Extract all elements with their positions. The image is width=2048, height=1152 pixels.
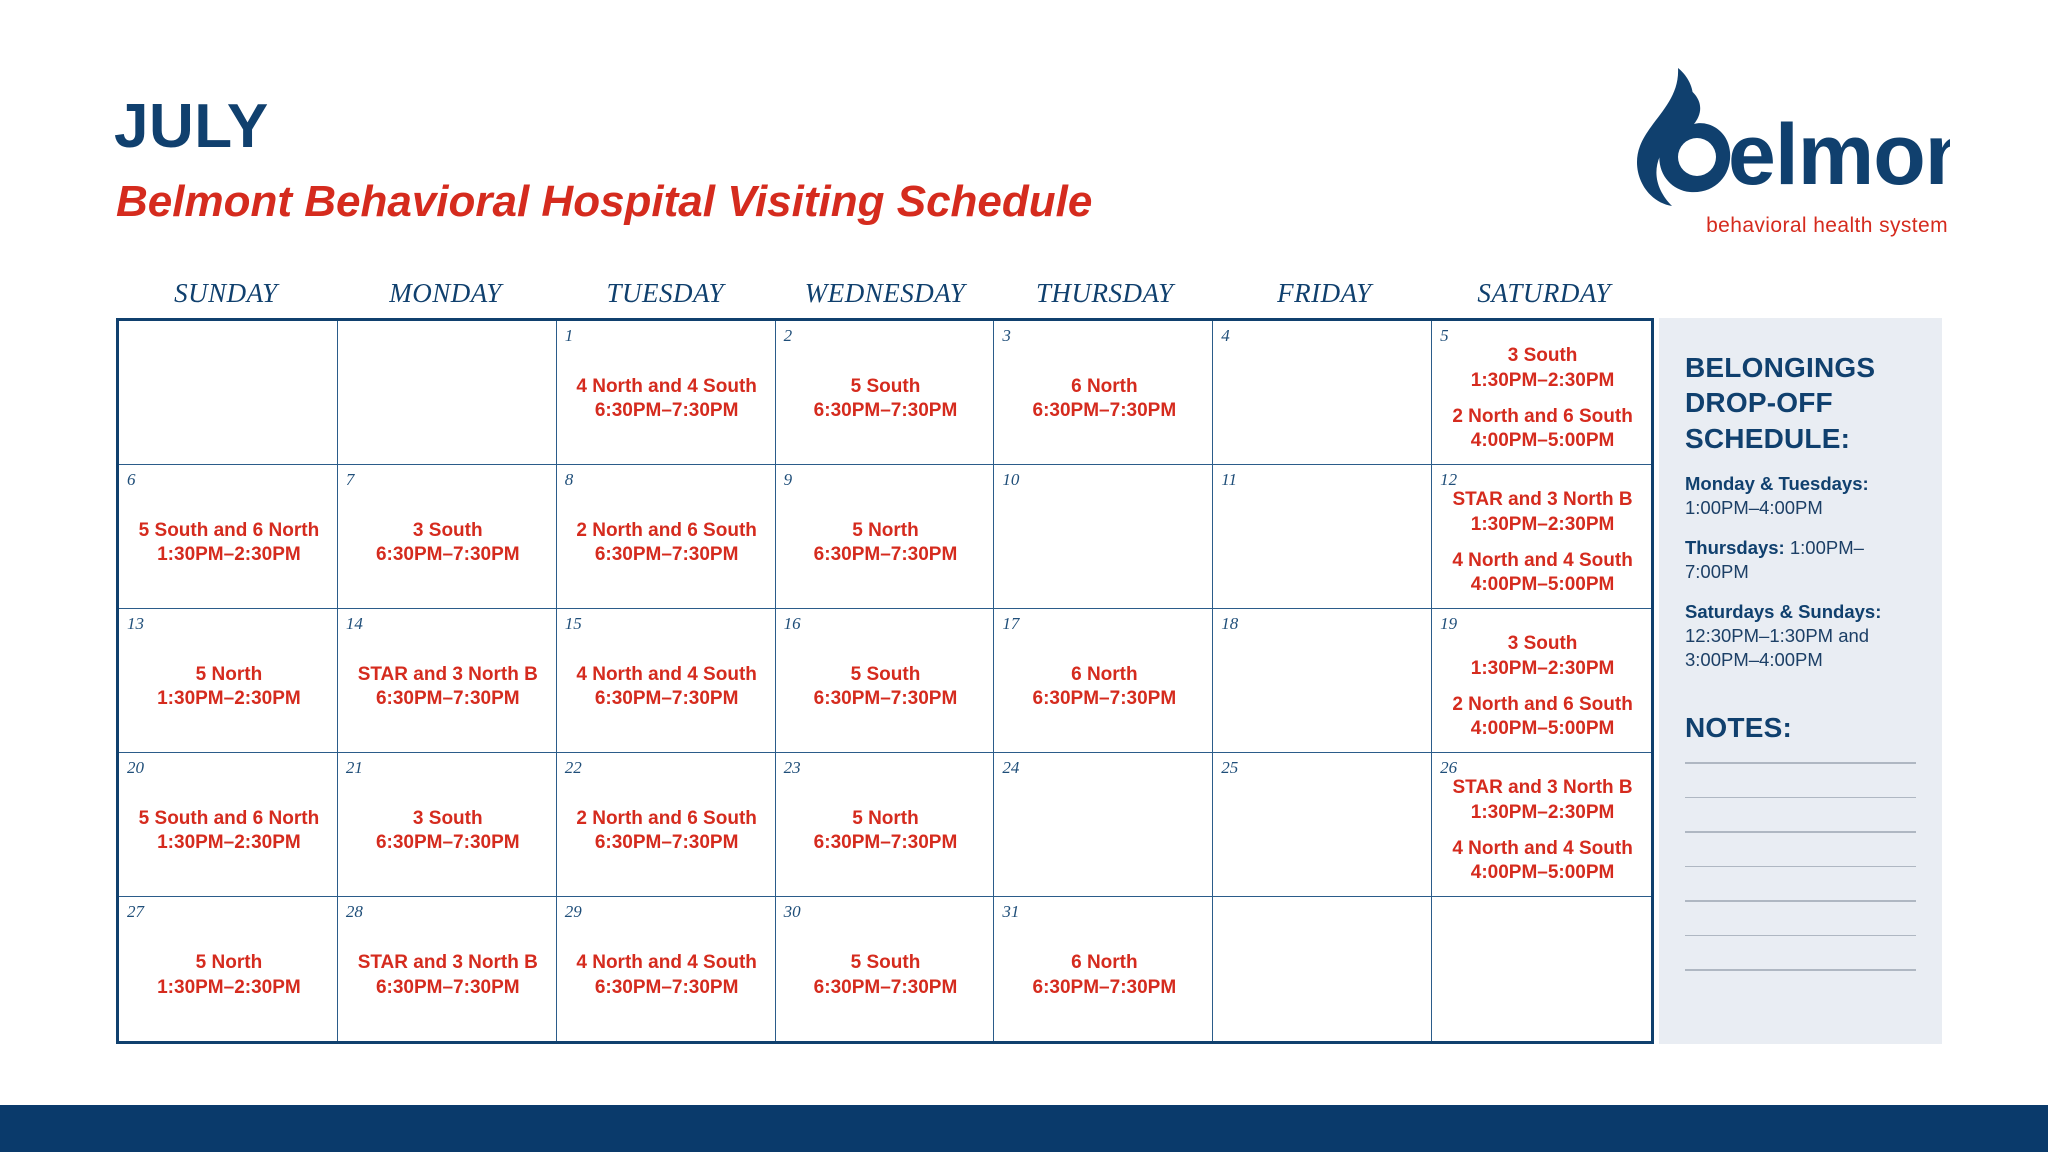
- day-events: 4 North and 4 South6:30PM–7:30PM: [565, 344, 769, 460]
- dropoff-schedule-list: Monday & Tuesdays:1:00PM–4:00PMThursdays…: [1685, 472, 1916, 672]
- dropoff-label: Saturdays & Sundays:: [1685, 601, 1881, 622]
- visiting-event: 4 North and 4 South6:30PM–7:30PM: [576, 951, 757, 1000]
- day-number: 27: [127, 903, 331, 920]
- event-unit: 5 North: [157, 663, 301, 687]
- day-events: 5 South6:30PM–7:30PM: [784, 344, 988, 460]
- day-events: STAR and 3 North B6:30PM–7:30PM: [346, 632, 550, 748]
- event-time: 6:30PM–7:30PM: [814, 543, 958, 567]
- weekday-header-sunday: SUNDAY: [116, 278, 336, 318]
- day-number: 10: [1002, 471, 1206, 488]
- event-unit: STAR and 3 North B: [1452, 488, 1632, 512]
- dropoff-value: 12:30PM–1:30PM and 3:00PM–4:00PM: [1685, 625, 1869, 670]
- event-unit: 5 South: [814, 375, 958, 399]
- calendar-day-cell[interactable]: 10: [994, 465, 1213, 609]
- day-number: 29: [565, 903, 769, 920]
- day-events: 5 North6:30PM–7:30PM: [784, 488, 988, 604]
- day-events: STAR and 3 North B1:30PM–2:30PM4 North a…: [1440, 776, 1645, 892]
- calendar-day-cell[interactable]: 213 South6:30PM–7:30PM: [338, 753, 557, 897]
- day-number: 3: [1002, 327, 1206, 344]
- event-unit: 5 South: [814, 663, 958, 687]
- event-time: 6:30PM–7:30PM: [576, 399, 757, 423]
- event-unit: 5 North: [157, 951, 301, 975]
- calendar-day-cell[interactable]: 28STAR and 3 North B6:30PM–7:30PM: [338, 897, 557, 1041]
- event-time: 1:30PM–2:30PM: [1452, 801, 1632, 825]
- visiting-event: 5 South6:30PM–7:30PM: [814, 375, 958, 424]
- calendar-day-cell[interactable]: 275 North1:30PM–2:30PM: [119, 897, 338, 1041]
- calendar-day-cell[interactable]: 176 North6:30PM–7:30PM: [994, 609, 1213, 753]
- event-unit: 3 South: [376, 807, 520, 831]
- day-number: 12: [1440, 471, 1645, 488]
- event-time: 4:00PM–5:00PM: [1452, 573, 1633, 597]
- visiting-event: 3 South6:30PM–7:30PM: [376, 519, 520, 568]
- dropoff-item: Monday & Tuesdays:1:00PM–4:00PM: [1685, 472, 1916, 520]
- event-time: 6:30PM–7:30PM: [814, 831, 958, 855]
- calendar-day-cell[interactable]: 294 North and 4 South6:30PM–7:30PM: [557, 897, 776, 1041]
- calendar-day-cell[interactable]: 65 South and 6 North1:30PM–2:30PM: [119, 465, 338, 609]
- note-line[interactable]: [1685, 935, 1916, 937]
- day-number: 17: [1002, 615, 1206, 632]
- day-events: [1221, 488, 1425, 604]
- calendar-day-cell[interactable]: 95 North6:30PM–7:30PM: [776, 465, 995, 609]
- calendar-day-cell[interactable]: 135 North1:30PM–2:30PM: [119, 609, 338, 753]
- visiting-event: STAR and 3 North B1:30PM–2:30PM: [1452, 776, 1632, 825]
- day-events: 3 South6:30PM–7:30PM: [346, 776, 550, 892]
- day-events: 2 North and 6 South6:30PM–7:30PM: [565, 488, 769, 604]
- calendar-day-cell[interactable]: 4: [1213, 321, 1432, 465]
- dropoff-item: Thursdays: 1:00PM–7:00PM: [1685, 536, 1916, 584]
- calendar-day-cell[interactable]: 235 North6:30PM–7:30PM: [776, 753, 995, 897]
- calendar-day-cell[interactable]: 26STAR and 3 North B1:30PM–2:30PM4 North…: [1432, 753, 1651, 897]
- day-number: 9: [784, 471, 988, 488]
- event-time: 6:30PM–7:30PM: [576, 543, 757, 567]
- event-time: 6:30PM–7:30PM: [376, 543, 520, 567]
- dropoff-item: Saturdays & Sundays:12:30PM–1:30PM and 3…: [1685, 600, 1916, 672]
- event-unit: STAR and 3 North B: [358, 663, 538, 687]
- visiting-event: 5 North1:30PM–2:30PM: [157, 951, 301, 1000]
- note-line[interactable]: [1685, 900, 1916, 902]
- calendar-day-cell[interactable]: [338, 321, 557, 465]
- visiting-event: 2 North and 6 South4:00PM–5:00PM: [1452, 405, 1633, 454]
- visiting-event: 5 North1:30PM–2:30PM: [157, 663, 301, 712]
- calendar-day-cell[interactable]: [1432, 897, 1651, 1041]
- visiting-event: 5 North6:30PM–7:30PM: [814, 807, 958, 856]
- day-events: 6 North6:30PM–7:30PM: [1002, 920, 1206, 1037]
- event-time: 1:30PM–2:30PM: [1471, 369, 1615, 393]
- calendar-day-cell[interactable]: 165 South6:30PM–7:30PM: [776, 609, 995, 753]
- day-events: 4 North and 4 South6:30PM–7:30PM: [565, 920, 769, 1037]
- event-time: 1:30PM–2:30PM: [1452, 513, 1632, 537]
- event-unit: 5 North: [814, 807, 958, 831]
- day-number: 13: [127, 615, 331, 632]
- event-time: 6:30PM–7:30PM: [814, 976, 958, 1000]
- day-number: 15: [565, 615, 769, 632]
- visiting-event: 5 South6:30PM–7:30PM: [814, 951, 958, 1000]
- day-number: 28: [346, 903, 550, 920]
- day-number: 11: [1221, 471, 1425, 488]
- visiting-event: 4 North and 4 South4:00PM–5:00PM: [1452, 837, 1633, 886]
- event-time: 4:00PM–5:00PM: [1452, 429, 1633, 453]
- event-time: 4:00PM–5:00PM: [1452, 717, 1633, 741]
- calendar-day-cell[interactable]: 25 South6:30PM–7:30PM: [776, 321, 995, 465]
- note-line[interactable]: [1685, 762, 1916, 764]
- event-unit: 5 North: [814, 519, 958, 543]
- event-time: 6:30PM–7:30PM: [358, 687, 538, 711]
- calendar-day-cell[interactable]: 24: [994, 753, 1213, 897]
- visiting-event: 6 North6:30PM–7:30PM: [1033, 951, 1177, 1000]
- event-time: 6:30PM–7:30PM: [1033, 399, 1177, 423]
- day-events: 5 South6:30PM–7:30PM: [784, 920, 988, 1037]
- calendar-day-cell[interactable]: 82 North and 6 South6:30PM–7:30PM: [557, 465, 776, 609]
- visiting-event: 5 South6:30PM–7:30PM: [814, 663, 958, 712]
- day-events: 5 South and 6 North1:30PM–2:30PM: [127, 488, 331, 604]
- calendar-day-cell[interactable]: 222 North and 6 South6:30PM–7:30PM: [557, 753, 776, 897]
- visiting-event: 3 South1:30PM–2:30PM: [1471, 344, 1615, 393]
- day-number: 25: [1221, 759, 1425, 776]
- visiting-event: 2 North and 6 South6:30PM–7:30PM: [576, 519, 757, 568]
- note-line[interactable]: [1685, 866, 1916, 868]
- calendar-day-cell[interactable]: 73 South6:30PM–7:30PM: [338, 465, 557, 609]
- dropoff-value: 1:00PM–4:00PM: [1685, 497, 1823, 518]
- event-time: 1:30PM–2:30PM: [157, 976, 301, 1000]
- event-unit: 4 North and 4 South: [576, 951, 757, 975]
- visiting-event: 5 South and 6 North1:30PM–2:30PM: [139, 519, 320, 568]
- day-events: [127, 327, 331, 460]
- day-events: 5 North6:30PM–7:30PM: [784, 776, 988, 892]
- event-time: 1:30PM–2:30PM: [157, 687, 301, 711]
- day-events: STAR and 3 North B6:30PM–7:30PM: [346, 920, 550, 1037]
- note-line[interactable]: [1685, 831, 1916, 833]
- flame-b-icon: elmont: [1620, 62, 1950, 212]
- calendar-day-cell[interactable]: 305 South6:30PM–7:30PM: [776, 897, 995, 1041]
- event-time: 6:30PM–7:30PM: [376, 831, 520, 855]
- dropoff-label: Thursdays:: [1685, 537, 1785, 558]
- event-time: 6:30PM–7:30PM: [814, 687, 958, 711]
- calendar-day-cell[interactable]: 154 North and 4 South6:30PM–7:30PM: [557, 609, 776, 753]
- calendar-page: JULY Belmont Behavioral Hospital Visitin…: [0, 0, 2048, 1152]
- day-events: [1221, 903, 1425, 1037]
- weekday-header-row: SUNDAYMONDAYTUESDAYWEDNESDAYTHURSDAYFRID…: [116, 278, 1654, 318]
- visiting-event: 3 South6:30PM–7:30PM: [376, 807, 520, 856]
- event-time: 6:30PM–7:30PM: [576, 687, 757, 711]
- day-number: 16: [784, 615, 988, 632]
- event-unit: 5 South and 6 North: [139, 519, 320, 543]
- day-number: 1: [565, 327, 769, 344]
- day-number: 2: [784, 327, 988, 344]
- event-unit: 4 North and 4 South: [1452, 837, 1633, 861]
- day-number: 31: [1002, 903, 1206, 920]
- visiting-event: 6 North6:30PM–7:30PM: [1033, 663, 1177, 712]
- visiting-event: 2 North and 6 South6:30PM–7:30PM: [576, 807, 757, 856]
- day-number: 26: [1440, 759, 1645, 776]
- day-events: 2 North and 6 South6:30PM–7:30PM: [565, 776, 769, 892]
- day-events: 5 South and 6 North1:30PM–2:30PM: [127, 776, 331, 892]
- event-time: 6:30PM–7:30PM: [814, 399, 958, 423]
- day-events: [1221, 632, 1425, 748]
- day-number: 23: [784, 759, 988, 776]
- calendar-day-cell[interactable]: 14STAR and 3 North B6:30PM–7:30PM: [338, 609, 557, 753]
- calendar-day-cell[interactable]: 205 South and 6 North1:30PM–2:30PM: [119, 753, 338, 897]
- day-events: [1002, 776, 1206, 892]
- event-time: 6:30PM–7:30PM: [1033, 687, 1177, 711]
- visiting-event: 6 North6:30PM–7:30PM: [1033, 375, 1177, 424]
- day-events: [1440, 903, 1645, 1037]
- calendar-day-cell[interactable]: 316 North6:30PM–7:30PM: [994, 897, 1213, 1041]
- day-number: 30: [784, 903, 988, 920]
- day-events: 6 North6:30PM–7:30PM: [1002, 344, 1206, 460]
- logo-tagline: behavioral health system: [1706, 214, 1948, 238]
- day-events: [346, 327, 550, 460]
- event-unit: 6 North: [1033, 951, 1177, 975]
- weekday-header-monday: MONDAY: [336, 278, 556, 318]
- calendar-day-cell[interactable]: 12STAR and 3 North B1:30PM–2:30PM4 North…: [1432, 465, 1651, 609]
- calendar-day-cell[interactable]: 193 South1:30PM–2:30PM2 North and 6 Sout…: [1432, 609, 1651, 753]
- svg-text:elmont: elmont: [1728, 107, 1950, 203]
- event-time: 4:00PM–5:00PM: [1452, 861, 1633, 885]
- day-events: [1221, 344, 1425, 460]
- notes-heading: NOTES:: [1685, 712, 1916, 744]
- day-number: 22: [565, 759, 769, 776]
- calendar-day-cell[interactable]: 25: [1213, 753, 1432, 897]
- event-time: 1:30PM–2:30PM: [1471, 657, 1615, 681]
- event-unit: 2 North and 6 South: [1452, 405, 1633, 429]
- day-events: 5 North1:30PM–2:30PM: [127, 632, 331, 748]
- calendar-day-cell[interactable]: 11: [1213, 465, 1432, 609]
- sidebar-panel: BELONGINGS DROP-OFF SCHEDULE: Monday & T…: [1659, 318, 1942, 1044]
- visiting-event: STAR and 3 North B6:30PM–7:30PM: [358, 951, 538, 1000]
- notes-lines[interactable]: [1685, 762, 1916, 971]
- visiting-event: 4 North and 4 South6:30PM–7:30PM: [576, 375, 757, 424]
- day-number: 6: [127, 471, 331, 488]
- calendar-day-cell[interactable]: 36 North6:30PM–7:30PM: [994, 321, 1213, 465]
- weekday-header-friday: FRIDAY: [1215, 278, 1435, 318]
- weekday-header-saturday: SATURDAY: [1434, 278, 1654, 318]
- event-time: 1:30PM–2:30PM: [139, 543, 320, 567]
- weekday-header-wednesday: WEDNESDAY: [775, 278, 995, 318]
- visiting-event: 4 North and 4 South4:00PM–5:00PM: [1452, 549, 1633, 598]
- event-unit: 3 South: [1471, 344, 1615, 368]
- day-number: 18: [1221, 615, 1425, 632]
- belmont-logo: elmont behavioral health system: [1620, 62, 1950, 242]
- day-events: STAR and 3 North B1:30PM–2:30PM4 North a…: [1440, 488, 1645, 604]
- calendar-grid: 14 North and 4 South6:30PM–7:30PM25 Sout…: [116, 318, 1654, 1044]
- day-number: 7: [346, 471, 550, 488]
- event-unit: 6 North: [1033, 663, 1177, 687]
- belongings-heading: BELONGINGS DROP-OFF SCHEDULE:: [1685, 350, 1916, 456]
- visiting-event: 3 South1:30PM–2:30PM: [1471, 632, 1615, 681]
- day-events: [1221, 776, 1425, 892]
- dropoff-label: Monday & Tuesdays:: [1685, 473, 1869, 494]
- day-events: 4 North and 4 South6:30PM–7:30PM: [565, 632, 769, 748]
- event-time: 6:30PM–7:30PM: [358, 976, 538, 1000]
- day-number: 19: [1440, 615, 1645, 632]
- event-unit: 2 North and 6 South: [1452, 693, 1633, 717]
- page-header: JULY Belmont Behavioral Hospital Visitin…: [0, 0, 2048, 270]
- event-unit: STAR and 3 North B: [358, 951, 538, 975]
- day-events: 6 North6:30PM–7:30PM: [1002, 632, 1206, 748]
- note-line[interactable]: [1685, 797, 1916, 799]
- event-time: 1:30PM–2:30PM: [139, 831, 320, 855]
- event-unit: 4 North and 4 South: [576, 663, 757, 687]
- day-number: 24: [1002, 759, 1206, 776]
- visiting-event: STAR and 3 North B1:30PM–2:30PM: [1452, 488, 1632, 537]
- calendar-day-cell[interactable]: 14 North and 4 South6:30PM–7:30PM: [557, 321, 776, 465]
- day-events: 3 South1:30PM–2:30PM2 North and 6 South4…: [1440, 344, 1645, 460]
- day-number: 8: [565, 471, 769, 488]
- weekday-header-tuesday: TUESDAY: [555, 278, 775, 318]
- event-unit: 3 South: [1471, 632, 1615, 656]
- day-number: 20: [127, 759, 331, 776]
- event-unit: 5 South: [814, 951, 958, 975]
- visiting-event: 5 North6:30PM–7:30PM: [814, 519, 958, 568]
- event-unit: STAR and 3 North B: [1452, 776, 1632, 800]
- event-unit: 2 North and 6 South: [576, 807, 757, 831]
- event-unit: 3 South: [376, 519, 520, 543]
- schedule-subtitle: Belmont Behavioral Hospital Visiting Sch…: [116, 180, 1092, 224]
- event-time: 6:30PM–7:30PM: [576, 831, 757, 855]
- event-unit: 5 South and 6 North: [139, 807, 320, 831]
- event-unit: 4 North and 4 South: [1452, 549, 1633, 573]
- event-time: 6:30PM–7:30PM: [1033, 976, 1177, 1000]
- note-line[interactable]: [1685, 969, 1916, 971]
- event-unit: 4 North and 4 South: [576, 375, 757, 399]
- weekday-header-thursday: THURSDAY: [995, 278, 1215, 318]
- month-title: JULY: [114, 96, 269, 158]
- event-unit: 2 North and 6 South: [576, 519, 757, 543]
- day-number: 21: [346, 759, 550, 776]
- calendar-day-cell[interactable]: 53 South1:30PM–2:30PM2 North and 6 South…: [1432, 321, 1651, 465]
- day-number: 14: [346, 615, 550, 632]
- calendar-day-cell[interactable]: [119, 321, 338, 465]
- day-events: 3 South1:30PM–2:30PM2 North and 6 South4…: [1440, 632, 1645, 748]
- visiting-event: 2 North and 6 South4:00PM–5:00PM: [1452, 693, 1633, 742]
- day-events: 5 South6:30PM–7:30PM: [784, 632, 988, 748]
- visiting-event: STAR and 3 North B6:30PM–7:30PM: [358, 663, 538, 712]
- day-number: 5: [1440, 327, 1645, 344]
- day-events: 3 South6:30PM–7:30PM: [346, 488, 550, 604]
- visiting-event: 4 North and 4 South6:30PM–7:30PM: [576, 663, 757, 712]
- event-time: 6:30PM–7:30PM: [576, 976, 757, 1000]
- bottom-accent-bar: [0, 1105, 2048, 1152]
- event-unit: 6 North: [1033, 375, 1177, 399]
- calendar-day-cell[interactable]: [1213, 897, 1432, 1041]
- day-events: [1002, 488, 1206, 604]
- day-events: 5 North1:30PM–2:30PM: [127, 920, 331, 1037]
- calendar-day-cell[interactable]: 18: [1213, 609, 1432, 753]
- day-number: 4: [1221, 327, 1425, 344]
- visiting-event: 5 South and 6 North1:30PM–2:30PM: [139, 807, 320, 856]
